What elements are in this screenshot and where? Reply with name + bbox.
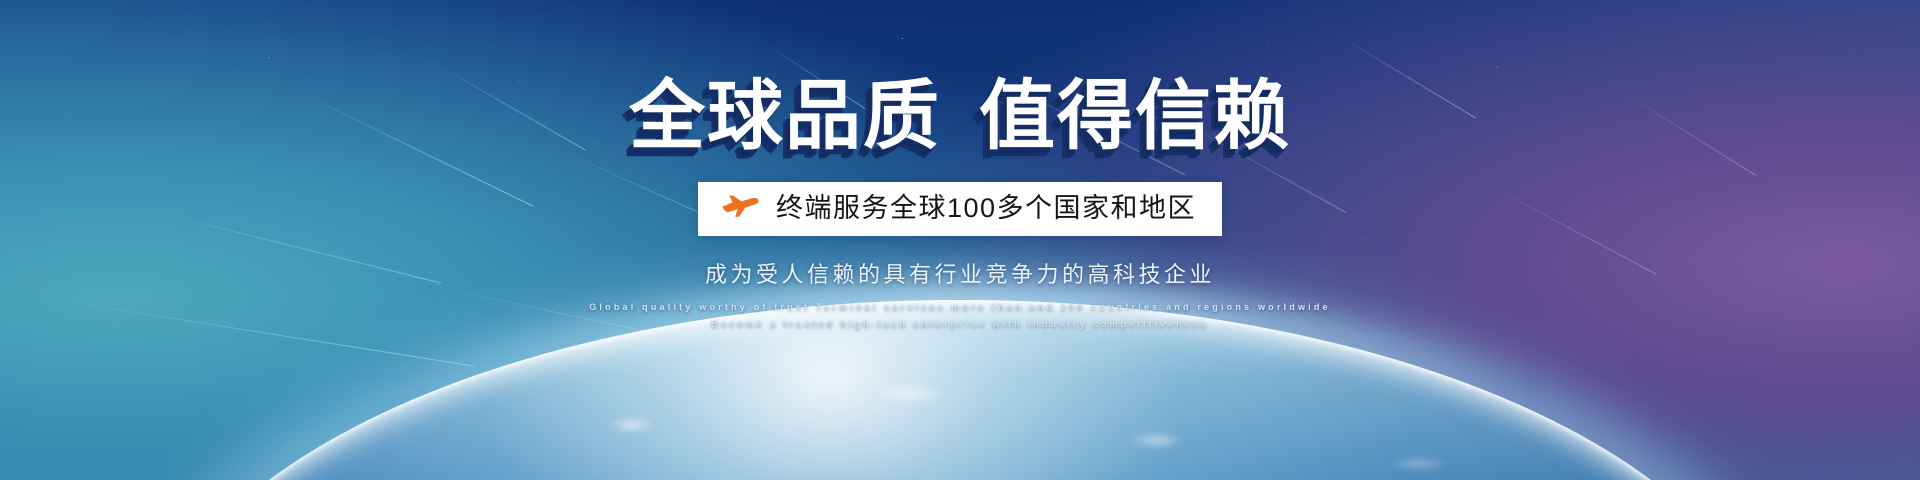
- service-plate: 终端服务全球100多个国家和地区: [698, 182, 1222, 236]
- banner-subtitle-en-line2: Become a trusted high-tech enterprise wi…: [711, 317, 1208, 332]
- airplane-icon: [720, 192, 760, 225]
- banner-subtitle-en-line1: Global quality worthy of trust Terminal …: [589, 300, 1331, 315]
- banner-headline: 全球品质值得信赖: [629, 74, 1291, 160]
- banner-subtitle-cn: 成为受人信赖的具有行业竞争力的高科技企业: [705, 260, 1215, 290]
- headline-part-right: 值得信赖: [979, 74, 1291, 159]
- banner-content: 全球品质值得信赖 终端服务全球100多个国家和地区 成为受人信赖的具有行业竞争力…: [0, 0, 1920, 480]
- hero-banner: 全球品质值得信赖 终端服务全球100多个国家和地区 成为受人信赖的具有行业竞争力…: [0, 0, 1920, 480]
- headline-part-left: 全球品质: [629, 74, 941, 159]
- service-plate-text: 终端服务全球100多个国家和地区: [776, 191, 1196, 225]
